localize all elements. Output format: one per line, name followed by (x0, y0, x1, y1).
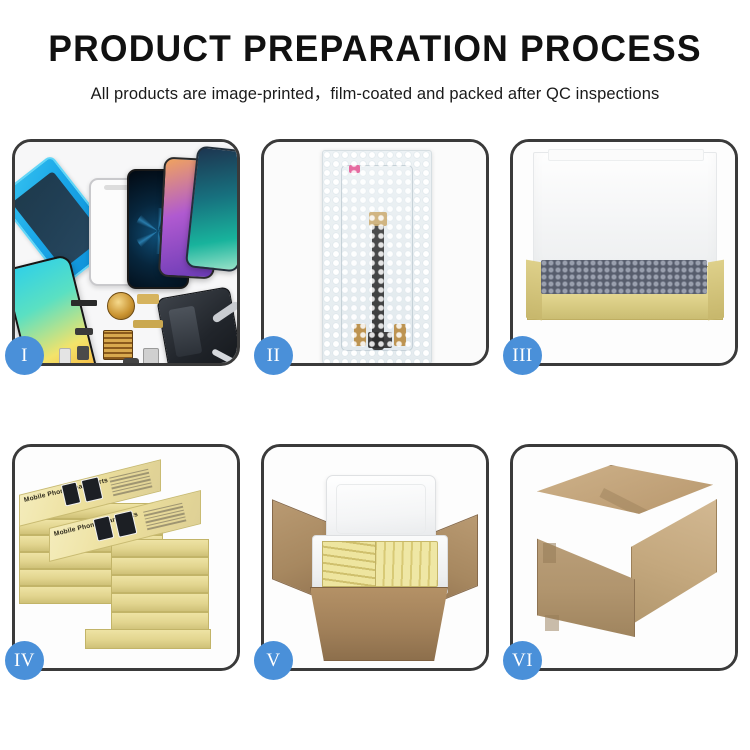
box-layer-8 (111, 557, 209, 575)
step-badge-5: V (254, 641, 293, 680)
connector-3-icon (368, 332, 392, 348)
page-subtitle: All products are image-printed，film-coat… (0, 80, 750, 104)
box-layer-9 (111, 575, 209, 593)
step-badge-2: II (254, 336, 293, 375)
page-title: PRODUCT PREPARATION PROCESS (15, 30, 735, 69)
chip-array-icon (103, 330, 133, 360)
bar-part-icon (71, 300, 97, 306)
step-2-image (264, 142, 486, 363)
pink-label-icon (349, 165, 360, 173)
process-step-grid: I II (12, 139, 738, 671)
step-badge-4: IV (5, 641, 44, 680)
step-badge-3: III (503, 336, 542, 375)
box-layer-12 (85, 629, 211, 649)
step-badge-6: VI (503, 641, 542, 680)
wrapped-screen-icon (341, 165, 413, 351)
step-1-image (15, 142, 237, 363)
small-part-4-icon (123, 358, 139, 363)
process-step-panel-6[interactable]: VI (510, 444, 738, 671)
phone-back-housing-icon (156, 286, 237, 363)
connector-1-icon (354, 324, 366, 346)
step-4-image: Mobile Phone Spare Parts Mobile Phone Sp… (15, 447, 237, 668)
process-step-panel-2[interactable]: II (261, 139, 489, 366)
coil-part-icon (107, 292, 135, 320)
bubble-wrapped-stack-icon (541, 260, 707, 294)
connector-2-icon (394, 324, 406, 346)
small-part-6-icon (59, 348, 71, 363)
step-3-image (513, 142, 735, 363)
packed-boxes-row-2-icon (322, 541, 376, 587)
step-5-image (264, 447, 486, 668)
small-part-2-icon (77, 346, 89, 360)
carton-body-icon (310, 587, 448, 661)
process-step-panel-3[interactable]: III (510, 139, 738, 366)
bubble-wrap-bag-icon (322, 150, 432, 363)
product-preparation-infographic: PRODUCT PREPARATION PROCESS All products… (0, 0, 750, 750)
flex-cable-b-icon (133, 320, 163, 328)
process-step-panel-4[interactable]: Mobile Phone Spare Parts Mobile Phone Sp… (12, 444, 240, 671)
carton-tape-lower-icon (545, 615, 559, 631)
small-part-5-icon (143, 348, 159, 363)
small-part-1-icon (75, 328, 93, 335)
carton-tape-upper-icon (543, 543, 556, 563)
carton-right-face-icon (631, 499, 717, 625)
box-layer-10 (111, 593, 209, 612)
foam-lid-icon (326, 475, 436, 543)
process-step-panel-1[interactable]: I (12, 139, 240, 366)
step-badge-1: I (5, 336, 44, 375)
process-step-panel-5[interactable]: V (261, 444, 489, 671)
header: PRODUCT PREPARATION PROCESS All products… (0, 0, 750, 104)
box-stack: Mobile Phone Spare Parts Mobile Phone Sp… (15, 447, 237, 668)
flex-cable-a-icon (137, 294, 159, 304)
step-6-image (513, 447, 735, 668)
